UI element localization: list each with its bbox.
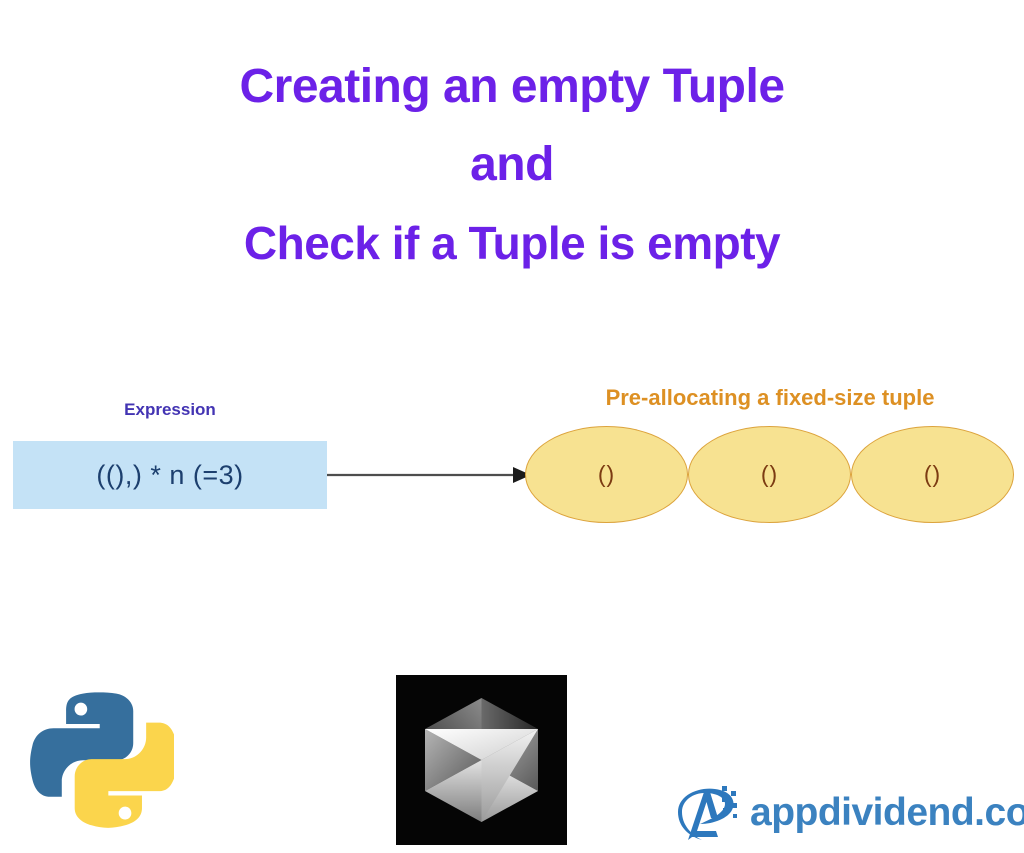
expression-box: ((),) * n (=3) (13, 441, 327, 509)
brand-text: appdividend.com (750, 791, 1024, 835)
tuple-slot-text: () (761, 461, 778, 488)
cube-logo (396, 675, 567, 845)
appdividend-logo: appdividend.com (672, 782, 1024, 844)
tuple-slot-node: () (525, 426, 688, 523)
flow-arrow (327, 455, 532, 495)
python-logo-icon (26, 676, 174, 839)
tuple-slot-text: () (924, 461, 941, 488)
tuple-slot-node: () (688, 426, 851, 523)
arrow-icon (327, 455, 532, 495)
expression-value: ((),) * n (=3) (96, 460, 243, 491)
tuple-slot-node: () (851, 426, 1014, 523)
appdividend-mark-icon (672, 782, 748, 844)
target-label: Pre-allocating a fixed-size tuple (520, 385, 1020, 411)
cube-logo-icon (396, 675, 567, 845)
python-logo (26, 676, 174, 839)
expression-label: Expression (13, 400, 327, 420)
tuple-slot-text: () (598, 461, 615, 488)
